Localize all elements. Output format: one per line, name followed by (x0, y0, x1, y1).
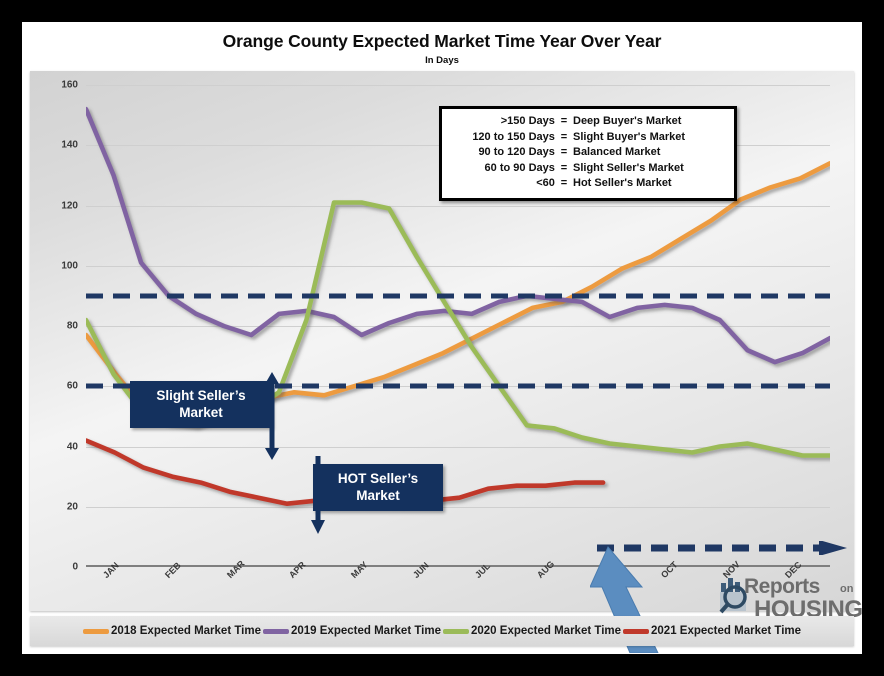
definition-label: Slight Seller's Market (573, 161, 725, 177)
legend-label: 2018 Expected Market Time (111, 625, 261, 637)
definition-label: Balanced Market (573, 145, 725, 161)
definition-label: Hot Seller's Market (573, 176, 725, 192)
y-axis-tick-label: 20 (38, 501, 78, 512)
chart-subtitle: In Days (22, 55, 862, 66)
definition-row: >150 Days = Deep Buyer's Market (451, 114, 725, 130)
definition-label: Deep Buyer's Market (573, 114, 725, 130)
legend-label: 2021 Expected Market Time (651, 625, 801, 637)
legend-item[interactable]: 2018 Expected Market Time (83, 625, 261, 637)
legend-swatch (623, 629, 649, 634)
y-axis-tick-label: 100 (38, 260, 78, 271)
legend-item[interactable]: 2020 Expected Market Time (443, 625, 621, 637)
legend-swatch (83, 629, 109, 634)
double-arrow-icon (262, 372, 282, 460)
y-axis-tick-label: 60 (38, 381, 78, 392)
definition-equals: = (558, 145, 570, 161)
down-arrow-icon (308, 456, 328, 534)
market-definition-box: >150 Days = Deep Buyer's Market 120 to 1… (439, 106, 737, 201)
y-axis-tick-label: 140 (38, 140, 78, 151)
definition-equals: = (558, 130, 570, 146)
definition-equals: = (558, 176, 570, 192)
page-title: Orange County Expected Market Time Year … (22, 31, 862, 52)
definition-range: 90 to 120 Days (478, 146, 554, 158)
definition-range: 60 to 90 Days (485, 162, 555, 174)
callout-hot-seller: HOT Seller’s Market (313, 464, 443, 511)
y-axis-tick-label: 120 (38, 200, 78, 211)
legend-swatch (443, 629, 469, 634)
definition-range: 120 to 150 Days (472, 131, 555, 143)
y-axis-tick-label: 0 (38, 562, 78, 573)
definition-row: <60 = Hot Seller's Market (451, 176, 725, 192)
definition-equals: = (558, 114, 570, 130)
chart-card: 020406080100120140160 JANFEBMARAPRMAYJUN… (30, 71, 854, 611)
definition-range: >150 Days (501, 115, 555, 127)
legend-swatch (263, 629, 289, 634)
definition-row: 120 to 150 Days = Slight Buyer's Market (451, 130, 725, 146)
y-axis-tick-label: 40 (38, 441, 78, 452)
definition-row: 60 to 90 Days = Slight Seller's Market (451, 161, 725, 177)
chart-frame: Orange County Expected Market Time Year … (22, 22, 862, 654)
definition-equals: = (558, 161, 570, 177)
y-axis-tick-label: 80 (38, 321, 78, 332)
legend-item[interactable]: 2021 Expected Market Time (623, 625, 801, 637)
definition-range: <60 (536, 177, 555, 189)
callout-slight-seller: Slight Seller’s Market (130, 381, 272, 428)
legend-label: 2019 Expected Market Time (291, 625, 441, 637)
logo-on-text: on (840, 583, 853, 595)
definition-label: Slight Buyer's Market (573, 130, 725, 146)
y-axis-tick-label: 160 (38, 80, 78, 91)
definition-row: 90 to 120 Days = Balanced Market (451, 145, 725, 161)
threshold-line-90 (86, 293, 830, 298)
chart-legend: 2018 Expected Market Time2019 Expected M… (30, 616, 854, 646)
legend-item[interactable]: 2019 Expected Market Time (263, 625, 441, 637)
legend-label: 2020 Expected Market Time (471, 625, 621, 637)
